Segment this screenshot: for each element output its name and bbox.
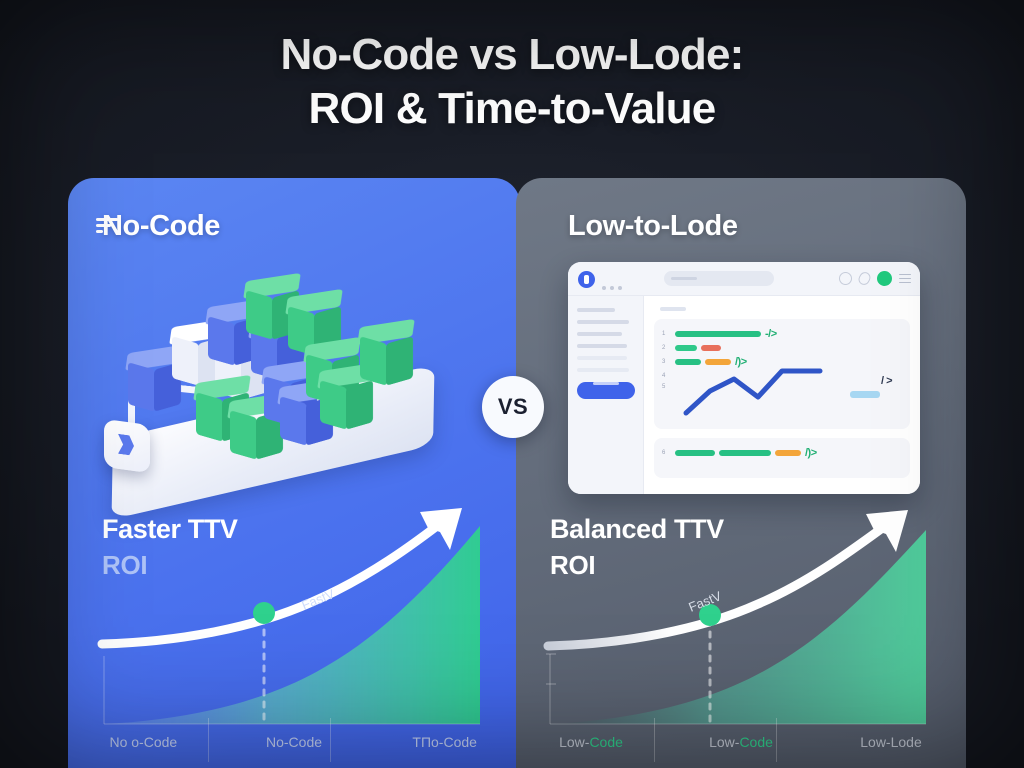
sidebar-line — [577, 332, 622, 336]
line-number: 4 — [662, 373, 671, 379]
axis-label: Low-Lode — [816, 734, 966, 750]
code-editor-mockup[interactable]: 1 -/> 2 3 /)> — [568, 262, 920, 494]
code-token — [775, 450, 801, 456]
right-area-fill — [550, 530, 926, 724]
sidebar-line — [577, 308, 615, 312]
block-cube — [360, 332, 412, 384]
isometric-blocks-illustration — [68, 254, 520, 499]
code-token — [719, 450, 771, 456]
avatar-icon[interactable] — [877, 271, 892, 286]
right-chart-title: Balanced TTV — [550, 514, 724, 545]
line-number: 1 — [662, 331, 671, 337]
line-number: 3 — [662, 359, 671, 365]
code-token — [705, 359, 731, 365]
right-chart: Balanced TTV ROI — [516, 506, 966, 768]
code-token — [850, 391, 880, 398]
app-logo-icon — [578, 271, 595, 288]
axis-label: Low-Code — [666, 734, 816, 750]
search-input[interactable] — [664, 271, 774, 286]
clip-icon[interactable] — [857, 270, 873, 287]
sidebar-line — [577, 344, 627, 348]
left-chart: Faster TTV ROI — [68, 506, 520, 768]
sidebar-line — [577, 368, 629, 372]
editor-tab[interactable] — [660, 307, 686, 311]
mockup-sidebar — [568, 296, 644, 494]
mockup-editor-area: 1 -/> 2 3 /)> — [644, 296, 920, 494]
axis-label: Low-Code — [516, 734, 666, 750]
ring-icon[interactable] — [839, 272, 852, 285]
panel-no-code[interactable]: No-Code Faster TTV ROI — [68, 178, 520, 768]
right-panel-heading: Low-to-Lode — [568, 210, 738, 243]
code-token — [675, 450, 715, 456]
left-data-point-marker — [253, 602, 275, 624]
right-chart-svg — [516, 506, 966, 768]
code-tag: -/> — [765, 328, 777, 340]
toolbar-actions — [839, 271, 911, 286]
code-tag: / > — [881, 375, 892, 387]
code-line: 2 — [662, 345, 902, 351]
right-axis-labels: Low-Code Low-Code Low-Lode — [516, 734, 966, 750]
line-number: 6 — [662, 450, 671, 456]
menu-lines-icon — [96, 216, 122, 236]
left-axis-labels: No o-Code No-Code TПo-Code — [68, 734, 520, 750]
code-block-upper: 1 -/> 2 3 /)> — [654, 319, 910, 429]
code-line: 5 — [662, 384, 902, 390]
left-area-fill — [104, 526, 480, 724]
line-number: 2 — [662, 345, 671, 351]
code-token — [675, 331, 761, 337]
menu-icon[interactable] — [899, 274, 911, 284]
mockup-toolbar — [568, 262, 920, 296]
code-token — [675, 345, 697, 351]
code-token — [701, 345, 721, 351]
left-chart-subtitle: ROI — [102, 550, 147, 581]
left-chart-title: Faster TTV — [102, 514, 238, 545]
line-number: 5 — [662, 384, 671, 390]
right-chart-subtitle: ROI — [550, 550, 595, 581]
code-tag: /)> — [805, 447, 817, 459]
left-chart-svg — [68, 506, 520, 768]
window-dots — [602, 277, 626, 295]
code-line: 1 -/> — [662, 328, 902, 340]
sidebar-line — [577, 356, 627, 360]
code-tag: /)> — [735, 356, 747, 368]
node-badge-icon — [104, 419, 150, 473]
code-line: 4 — [662, 373, 902, 379]
title-line-1: No-Code vs Low-Lode: — [0, 28, 1024, 82]
code-block-lower: 6 /)> — [654, 438, 910, 478]
infographic-canvas: No-Code vs Low-Lode: ROI & Time-to-Value… — [0, 0, 1024, 768]
axis-label: No o-Code — [68, 734, 219, 750]
code-line: 6 /)> — [662, 447, 902, 459]
axis-label: TПo-Code — [369, 734, 520, 750]
title-line-2: ROI & Time-to-Value — [0, 82, 1024, 136]
vs-badge: VS — [482, 376, 544, 438]
panel-low-code[interactable]: Low-to-Lode — [516, 178, 966, 768]
sidebar-line — [577, 320, 629, 324]
page-title: No-Code vs Low-Lode: ROI & Time-to-Value — [0, 28, 1024, 136]
axis-label: No-Code — [219, 734, 370, 750]
sidebar-cta-button[interactable] — [577, 382, 635, 399]
code-token — [675, 359, 701, 365]
code-line: 3 /)> — [662, 356, 902, 368]
